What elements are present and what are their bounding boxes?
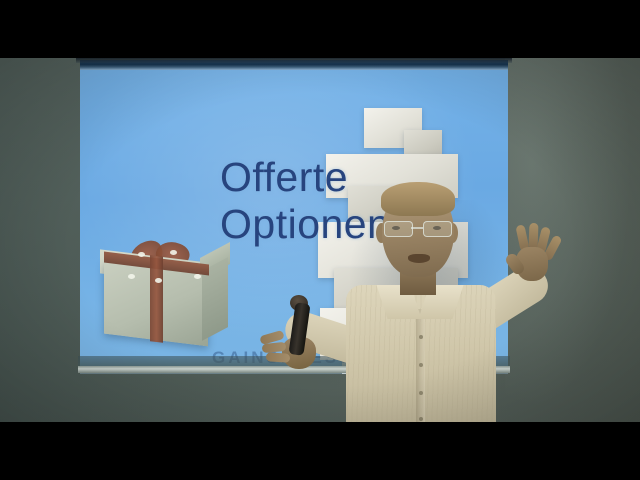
presenter-hair <box>381 182 455 216</box>
video-frame: Offerte Optionen GAINSPRESS <box>0 0 640 480</box>
finger <box>266 352 291 363</box>
shirt-button <box>419 363 423 367</box>
shirt-placket <box>416 309 425 425</box>
shirt-button <box>419 335 423 339</box>
letterbox-bar-bottom <box>0 422 640 480</box>
gift-sparkle <box>170 250 177 255</box>
glasses-lens-right <box>423 221 452 237</box>
gift-sparkle <box>128 274 135 279</box>
gift-ribbon-vertical <box>150 255 163 343</box>
gift-sparkle <box>138 252 145 257</box>
screen-roller-shadow <box>76 58 512 63</box>
glasses-icon <box>384 221 452 236</box>
shirt-button <box>419 391 423 395</box>
presenter-left-hand <box>268 317 326 377</box>
presenter <box>330 185 590 425</box>
glasses-bridge <box>411 227 423 229</box>
gift-sparkle <box>155 278 162 283</box>
presenter-right-hand <box>508 225 558 283</box>
slide-title-line-1: Offerte <box>220 154 348 201</box>
presenter-mouth <box>408 254 430 263</box>
letterbox-bar-top <box>0 0 640 58</box>
gift-sparkle <box>194 274 201 279</box>
slide-graphic-gift-box <box>98 230 230 348</box>
glasses-lens-left <box>384 221 413 237</box>
shirt-button <box>419 417 423 421</box>
